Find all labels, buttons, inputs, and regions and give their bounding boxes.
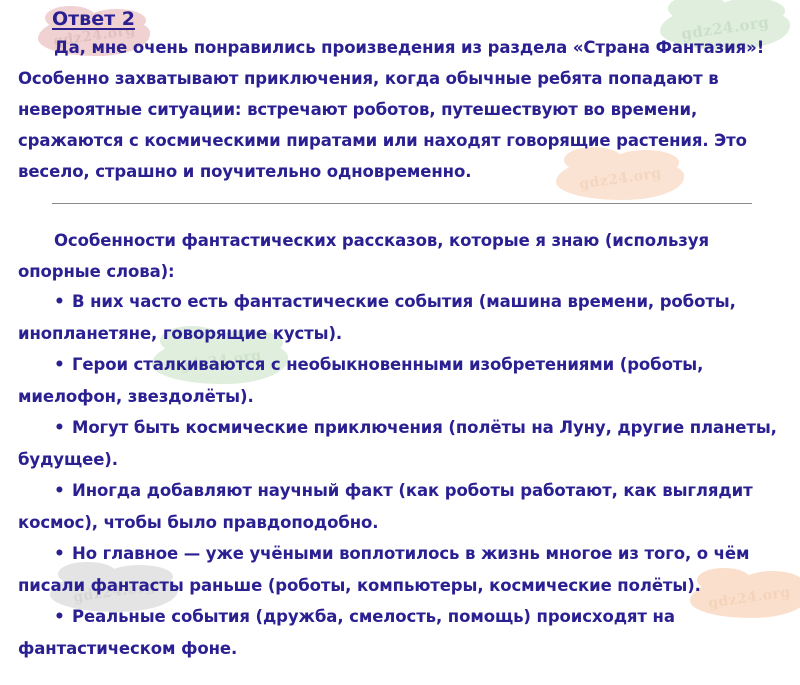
list-item: •Герои сталкиваются с необыкновенными из… <box>18 349 792 412</box>
list-item-text: Но главное — уже учёными воплотилось в ж… <box>18 544 749 595</box>
bullet-icon: • <box>54 476 72 507</box>
features-list: •В них часто есть фантастические события… <box>18 286 792 664</box>
bullet-icon: • <box>54 539 72 570</box>
section-divider <box>52 203 752 204</box>
list-item: •Иногда добавляют научный факт (как робо… <box>18 475 792 538</box>
list-item-text: В них часто есть фантастические события … <box>18 292 736 343</box>
bullet-icon: • <box>54 287 72 318</box>
list-item: •Реальные события (дружба, смелость, пом… <box>18 601 792 664</box>
bullet-icon: • <box>54 350 72 381</box>
section-intro-paragraph: Особенности фантастических рассказов, ко… <box>18 225 790 287</box>
list-item: •Могут быть космические приключения (пол… <box>18 412 792 475</box>
bullet-icon: • <box>54 413 72 444</box>
answer-page: gdz24.org gdz24.org gdz24.org gdz24.org … <box>0 0 800 685</box>
list-item: •В них часто есть фантастические события… <box>18 286 792 349</box>
bullet-icon: • <box>54 602 72 633</box>
answer-title: Ответ 2 <box>52 8 135 30</box>
list-item-text: Иногда добавляют научный факт (как робот… <box>18 481 753 532</box>
intro-paragraph: Да, мне очень понравились произведения и… <box>18 32 790 187</box>
list-item-text: Могут быть космические приключения (полё… <box>18 418 777 469</box>
list-item-text: Герои сталкиваются с необыкновенными изо… <box>18 355 703 406</box>
list-item: •Но главное — уже учёными воплотилось в … <box>18 538 792 601</box>
list-item-text: Реальные события (дружба, смелость, помо… <box>18 607 675 658</box>
